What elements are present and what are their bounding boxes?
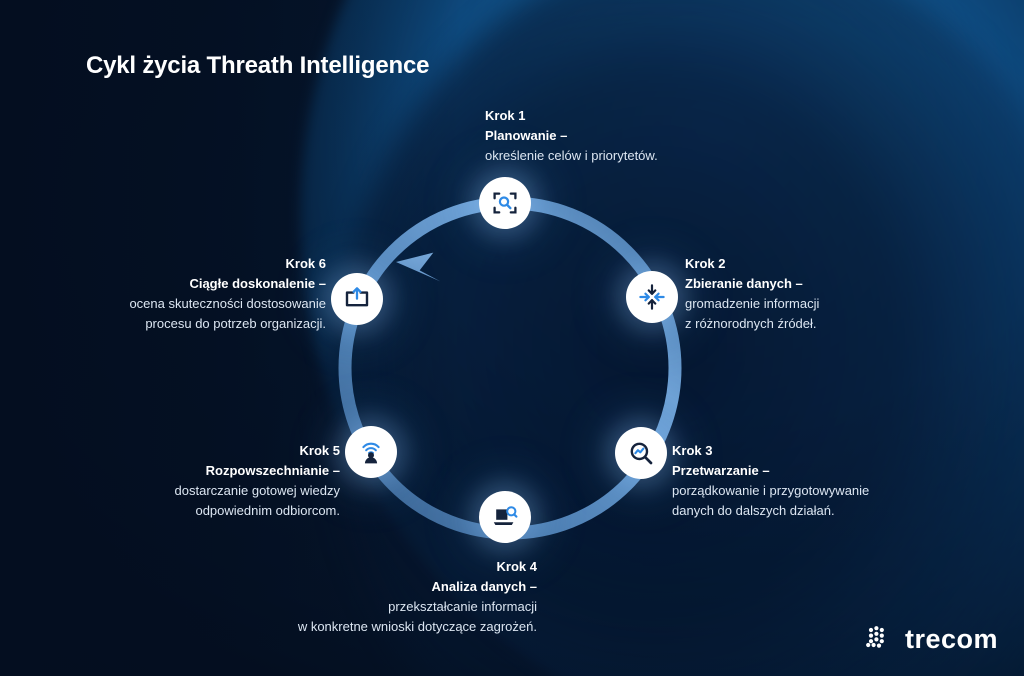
step-6-description-line-2: procesu do potrzeb organizacji. <box>0 314 326 334</box>
dot-cluster-icon <box>866 624 896 654</box>
step-6-description-line-1: ocena skuteczności dostosowanie <box>0 294 326 314</box>
brand-logo: trecom <box>866 624 998 654</box>
step-5-number: Krok 5 <box>0 441 340 461</box>
step-4-description-line-1: przekształcanie informacji <box>0 597 537 617</box>
feedback-loop-icon <box>344 286 370 312</box>
step-1-description: określenie celów i priorytetów. <box>485 146 658 166</box>
cycle-node-step-6[interactable] <box>331 273 383 325</box>
step-2-text: Krok 2 Zbieranie danych – gromadzenie in… <box>685 254 819 335</box>
step-1-number: Krok 1 <box>485 106 658 126</box>
magnifier-chart-icon <box>628 440 654 466</box>
cycle-ring-circle <box>345 203 675 533</box>
scan-search-icon <box>492 190 518 216</box>
step-2-title: Zbieranie danych – <box>685 274 819 294</box>
step-5-description-line-2: odpowiednim odbiorcom. <box>0 501 340 521</box>
step-4-title: Analiza danych – <box>0 577 537 597</box>
step-3-number: Krok 3 <box>672 441 869 461</box>
page-title: Cykl życia Threath Intelligence <box>86 52 429 80</box>
broadcast-person-icon <box>358 439 384 465</box>
brand-logo-text: trecom <box>905 626 998 653</box>
step-2-description-line-2: z różnorodnych źródeł. <box>685 314 819 334</box>
step-4-text: Krok 4 Analiza danych – przekształcanie … <box>0 557 537 638</box>
step-5-text: Krok 5 Rozpowszechnianie – dostarczanie … <box>0 441 340 522</box>
step-6-text: Krok 6 Ciągłe doskonalenie – ocena skute… <box>0 254 326 335</box>
step-4-number: Krok 4 <box>0 557 537 577</box>
step-3-text: Krok 3 Przetwarzanie – porządkowanie i p… <box>672 441 869 522</box>
cycle-node-step-3[interactable] <box>615 427 667 479</box>
step-1-text: Krok 1 Planowanie – określenie celów i p… <box>485 106 658 166</box>
collect-arrows-icon <box>639 284 665 310</box>
step-6-title: Ciągłe doskonalenie – <box>0 274 326 294</box>
step-5-title: Rozpowszechnianie – <box>0 461 340 481</box>
step-3-title: Przetwarzanie – <box>672 461 869 481</box>
step-3-description-line-2: danych do dalszych działań. <box>672 501 869 521</box>
cycle-node-step-2[interactable] <box>626 271 678 323</box>
cycle-node-step-1[interactable] <box>479 177 531 229</box>
step-2-description-line-1: gromadzenie informacji <box>685 294 819 314</box>
laptop-search-icon <box>492 504 518 530</box>
cycle-node-step-4[interactable] <box>479 491 531 543</box>
cycle-node-step-5[interactable] <box>345 426 397 478</box>
step-2-number: Krok 2 <box>685 254 819 274</box>
step-1-title: Planowanie – <box>485 126 658 146</box>
step-5-description-line-1: dostarczanie gotowej wiedzy <box>0 481 340 501</box>
step-3-description-line-1: porządkowanie i przygotowywanie <box>672 481 869 501</box>
step-4-description-line-2: w konkretne wnioski dotyczące zagrożeń. <box>0 617 537 637</box>
step-6-number: Krok 6 <box>0 254 326 274</box>
